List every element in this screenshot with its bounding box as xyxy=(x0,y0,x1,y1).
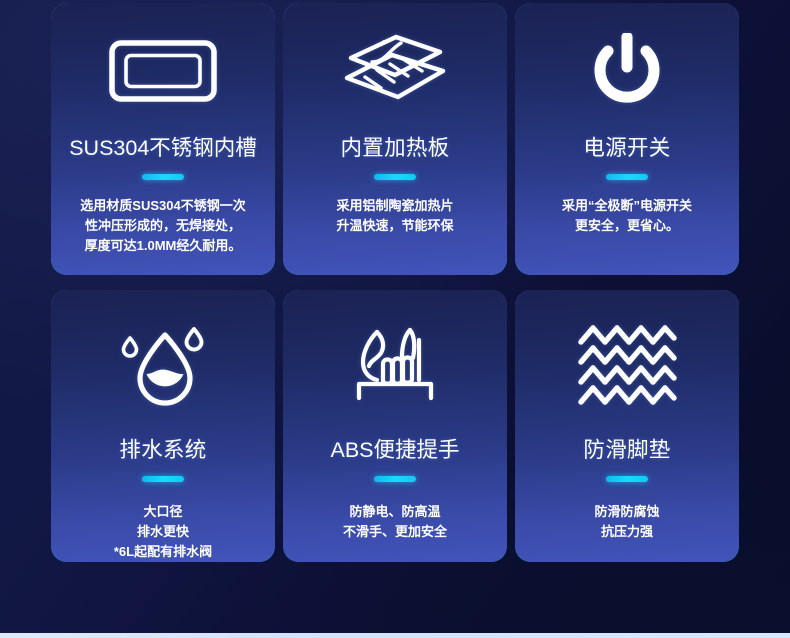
desc-line: 更安全，更省心。 xyxy=(562,216,692,236)
card-title: 内置加热板 xyxy=(340,138,449,160)
card-description: 选用材质SUS304不锈钢一次 性冲压形成的，无焊接处， 厚度可达1.0MM经久… xyxy=(66,196,259,256)
desc-line: 厚度可达1.0MM经久耐用。 xyxy=(80,236,245,256)
feature-card-power-switch[interactable]: 电源开关 采用“全极断”电源开关 更安全，更省心。 xyxy=(514,2,740,276)
card-title: 防滑脚垫 xyxy=(583,440,670,462)
title-divider xyxy=(606,476,648,482)
desc-line: 大口径 xyxy=(114,502,212,522)
desc-line: 性冲压形成的，无焊接处， xyxy=(80,216,245,236)
feature-card-anti-slip-feet[interactable]: 防滑脚垫 防滑防腐蚀 抗压力强 xyxy=(514,289,740,563)
title-divider xyxy=(142,174,184,180)
card-description: 防静电、防高温 不滑手、更加安全 xyxy=(329,502,461,542)
card-description: 采用铝制陶瓷加热片 升温快速，节能环保 xyxy=(322,196,467,236)
card-title: ABS便捷提手 xyxy=(330,440,459,462)
desc-line: *6L起配有排水阀 xyxy=(114,542,212,562)
desc-line: 采用“全极断”电源开关 xyxy=(562,196,692,216)
desc-line: 升温快速，节能环保 xyxy=(336,216,453,236)
rectangular-tank-icon xyxy=(51,3,275,138)
feature-card-drainage-system[interactable]: 排水系统 大口径 排水更快 *6L起配有排水阀 xyxy=(50,289,276,563)
card-title: 排水系统 xyxy=(119,440,206,462)
feature-card-grid: SUS304不锈钢内槽 选用材质SUS304不锈钢一次 性冲压形成的，无焊接处，… xyxy=(50,2,740,563)
desc-line: 选用材质SUS304不锈钢一次 xyxy=(80,196,245,216)
water-drop-icon xyxy=(51,290,275,440)
card-description: 采用“全极断”电源开关 更安全，更省心。 xyxy=(548,196,706,236)
card-description: 防滑防腐蚀 抗压力强 xyxy=(580,502,673,542)
title-divider xyxy=(374,174,416,180)
feature-grid-page: SUS304不锈钢内槽 选用材质SUS304不锈钢一次 性冲压形成的，无焊接处，… xyxy=(0,0,790,638)
card-title: SUS304不锈钢内槽 xyxy=(69,138,257,160)
bottom-accent-strip xyxy=(0,633,790,638)
power-button-icon xyxy=(515,3,739,138)
card-description: 大口径 排水更快 *6L起配有排水阀 xyxy=(100,502,226,562)
desc-line: 抗压力强 xyxy=(594,522,659,542)
feature-card-abs-handle[interactable]: ABS便捷提手 防静电、防高温 不滑手、更加安全 xyxy=(282,289,508,563)
title-divider xyxy=(606,174,648,180)
feature-card-built-in-heating-plate[interactable]: 内置加热板 采用铝制陶瓷加热片 升温快速，节能环保 xyxy=(282,2,508,276)
desc-line: 防静电、防高温 xyxy=(343,502,447,522)
title-divider xyxy=(374,476,416,482)
title-divider xyxy=(142,476,184,482)
herringbone-tread-icon xyxy=(515,290,739,440)
feature-card-sus304-inner-tank[interactable]: SUS304不锈钢内槽 选用材质SUS304不锈钢一次 性冲压形成的，无焊接处，… xyxy=(50,2,276,276)
desc-line: 排水更快 xyxy=(114,522,212,542)
stacked-layers-icon xyxy=(283,3,507,138)
hand-grip-handle-icon xyxy=(283,290,507,440)
card-title: 电源开关 xyxy=(583,138,670,160)
desc-line: 采用铝制陶瓷加热片 xyxy=(336,196,453,216)
desc-line: 防滑防腐蚀 xyxy=(594,502,659,522)
desc-line: 不滑手、更加安全 xyxy=(343,522,447,542)
